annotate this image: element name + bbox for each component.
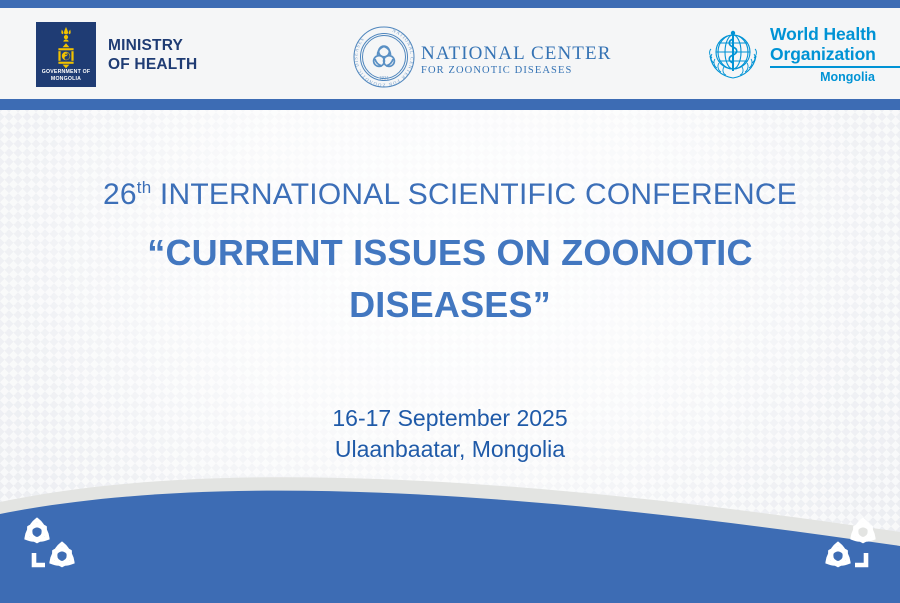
who-title-line2: Organization [770, 45, 900, 65]
mongolia-government-crest: GOVERNMENT OF MONGOLIA [36, 22, 96, 87]
header-separator-bar [0, 99, 900, 110]
conference-theme: “CURRENT ISSUES ON ZOONOTIC DISEASES” [0, 227, 900, 331]
crest-caption: GOVERNMENT OF MONGOLIA [36, 69, 96, 83]
slide-body: 26th INTERNATIONAL SCIENTIFIC CONFERENCE… [0, 110, 900, 470]
national-center-name-line1: NATIONAL CENTER [421, 43, 611, 64]
conference-dates: 16-17 September 2025 [0, 403, 900, 434]
ministry-of-health-logo: GOVERNMENT OF MONGOLIA MINISTRY OF HEALT… [36, 22, 197, 87]
national-center-name: NATIONAL CENTER FOR ZOONOTIC DISEASES [421, 43, 611, 77]
who-wordmark: World Health Organization Mongolia [770, 25, 900, 84]
who-divider [770, 66, 900, 68]
conference-number: 26 [103, 178, 137, 211]
ministry-name-line1: MINISTRY [108, 36, 197, 55]
triquetra-knot-icon-left [14, 512, 88, 583]
conference-ordinal: th [137, 178, 152, 197]
crest-caption-line2: MONGOLIA [36, 76, 96, 83]
who-logo: World Health Organization Mongolia [704, 25, 900, 87]
biohazard-seal-icon: NATIONAL CENTER FOR ZOONOTIC DISEASES 19… [353, 26, 415, 93]
conference-label: INTERNATIONAL SCIENTIFIC CONFERENCE [160, 178, 797, 211]
ministry-name: MINISTRY OF HEALTH [108, 36, 197, 74]
national-center-name-line2: FOR ZOONOTIC DISEASES [421, 64, 611, 77]
conference-heading: 26th INTERNATIONAL SCIENTIFIC CONFERENCE [0, 177, 900, 213]
crest-caption-line1: GOVERNMENT OF [36, 69, 96, 76]
top-accent-bar [0, 0, 900, 8]
logo-header: GOVERNMENT OF MONGOLIA MINISTRY OF HEALT… [0, 8, 900, 99]
who-title-line1: World Health [770, 25, 900, 45]
conference-meta: 16-17 September 2025 Ulaanbaatar, Mongol… [0, 403, 900, 465]
who-emblem-icon [704, 28, 762, 87]
triquetra-knot-icon-right [812, 512, 886, 583]
soyombo-icon [53, 27, 79, 74]
conference-title-slide: GOVERNMENT OF MONGOLIA MINISTRY OF HEALT… [0, 0, 900, 603]
national-center-logo: NATIONAL CENTER FOR ZOONOTIC DISEASES 19… [353, 26, 611, 93]
ministry-name-line2: OF HEALTH [108, 55, 197, 74]
svg-text:1931: 1931 [379, 77, 390, 82]
wave-band-icon [0, 458, 900, 603]
who-country-label: Mongolia [770, 70, 900, 84]
